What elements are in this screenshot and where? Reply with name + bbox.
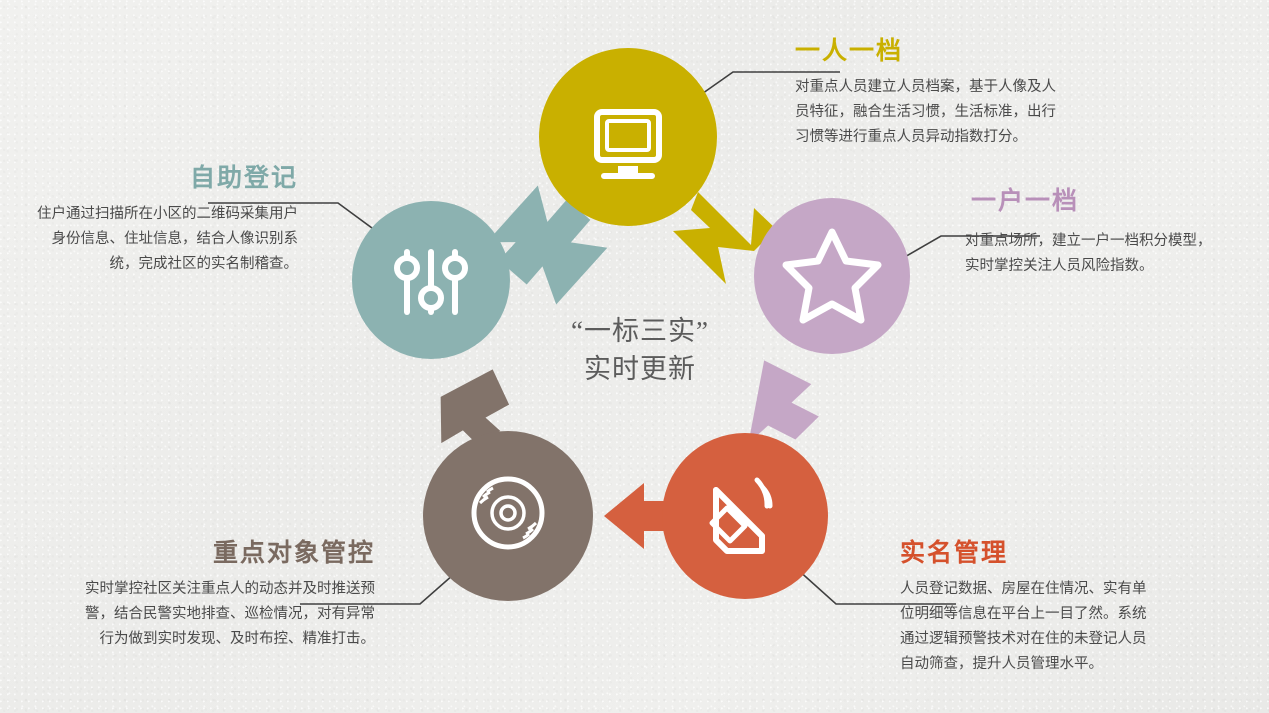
text-block-self-registration: 自助登记 住户通过扫描所在小区的二维码采集用户身份信息、住址信息，结合人像识别系… xyxy=(30,165,298,277)
block-body-key-target-control: 实时掌控社区关注重点人的动态并及时推送预警，结合民警实地排查、巡检情况，对有异常… xyxy=(85,577,375,652)
block-title-self-registration: 自助登记 xyxy=(30,165,298,194)
center-caption: “一标三实” 实时更新 xyxy=(515,312,765,389)
text-block-key-target-control: 重点对象管控 实时掌控社区关注重点人的动态并及时推送预警，结合民警实地排查、巡检… xyxy=(85,540,375,652)
block-title-house-file: 一户一档 xyxy=(971,188,1235,217)
block-body-house-file: 对重点场所，建立一户一档积分模型，实时掌控关注人员风险指数。 xyxy=(965,229,1223,279)
center-caption-line2: 实时更新 xyxy=(515,350,765,388)
sliders-icon xyxy=(397,252,465,312)
text-block-real-name: 实名管理 人员登记数据、房屋在住情况、实有单位明细等信息在平台上一目了然。系统通… xyxy=(900,540,1152,677)
block-title-key-target-control: 重点对象管控 xyxy=(85,540,375,569)
node-circle-real-name[interactable] xyxy=(662,433,828,599)
block-title-person-file: 一人一档 xyxy=(795,38,1057,67)
text-block-person-file: 一人一档 对重点人员建立人员档案，基于人像及人员特征，融合生活习惯，生活标准，出… xyxy=(795,38,1057,150)
block-title-real-name: 实名管理 xyxy=(900,540,1152,569)
slide-canvas: “一标三实” 实时更新 一人一档 对重点人员建立人员档案，基于人像及人员特征，融… xyxy=(0,0,1269,713)
center-caption-line1: “一标三实” xyxy=(515,312,765,350)
block-body-person-file: 对重点人员建立人员档案，基于人像及人员特征，融合生活习惯，生活标准，出行习惯等进… xyxy=(795,75,1057,150)
text-block-house-file: 一户一档 对重点场所，建立一户一档积分模型，实时掌控关注人员风险指数。 xyxy=(965,188,1235,279)
node-circle-person-file[interactable] xyxy=(539,48,717,226)
node-circle-self-registration[interactable] xyxy=(352,201,510,359)
block-body-self-registration: 住户通过扫描所在小区的二维码采集用户身份信息、住址信息，结合人像识别系统，完成社… xyxy=(30,202,298,277)
node-circle-house-file[interactable] xyxy=(754,198,910,354)
node-circle-key-target-control[interactable] xyxy=(423,431,593,601)
block-body-real-name: 人员登记数据、房屋在住情况、实有单位明细等信息在平台上一目了然。系统通过逻辑预警… xyxy=(900,577,1152,677)
